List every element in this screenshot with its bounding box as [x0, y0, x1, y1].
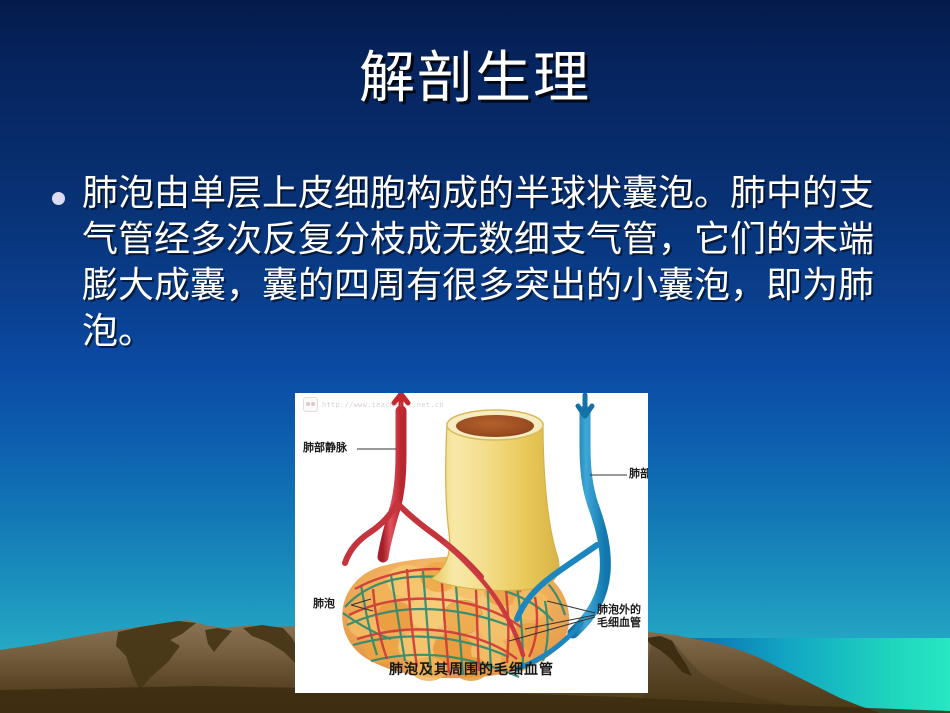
- image-watermark: http://www.teacher...net.cn: [303, 397, 444, 412]
- label-capillary: 肺泡外的 毛细血管: [597, 603, 641, 630]
- alveolus-illustration: http://www.teacher...net.cn 肺部静脉 肺部动脉 肺泡…: [295, 393, 648, 693]
- label-pulmonary-artery: 肺部动脉: [629, 467, 648, 480]
- picture-caption: 肺泡及其周围的毛细血管: [295, 659, 648, 679]
- watermark-logo-icon: [303, 397, 318, 412]
- presentation-slide: 解剖生理 肺泡由单层上皮细胞构成的半球状囊泡。肺中的支气管经多次反复分枝成无数细…: [0, 0, 950, 713]
- label-pulmonary-vein: 肺部静脉: [303, 441, 347, 454]
- bronchus-lumen: [456, 415, 534, 437]
- slide-title: 解剖生理: [0, 46, 950, 112]
- slide-body: 肺泡由单层上皮细胞构成的半球状囊泡。肺中的支气管经多次反复分枝成无数细支气管，它…: [52, 170, 898, 354]
- bullet-marker-icon: [52, 192, 65, 205]
- watermark-url: http://www.teacher...net.cn: [322, 401, 444, 409]
- alveolus-diagram-graphic: [295, 393, 648, 693]
- bronchus-tube: [431, 423, 559, 591]
- label-alveolus: 肺泡: [313, 597, 335, 610]
- bullet-text: 肺泡由单层上皮细胞构成的半球状囊泡。肺中的支气管经多次反复分枝成无数细支气管，它…: [82, 170, 898, 354]
